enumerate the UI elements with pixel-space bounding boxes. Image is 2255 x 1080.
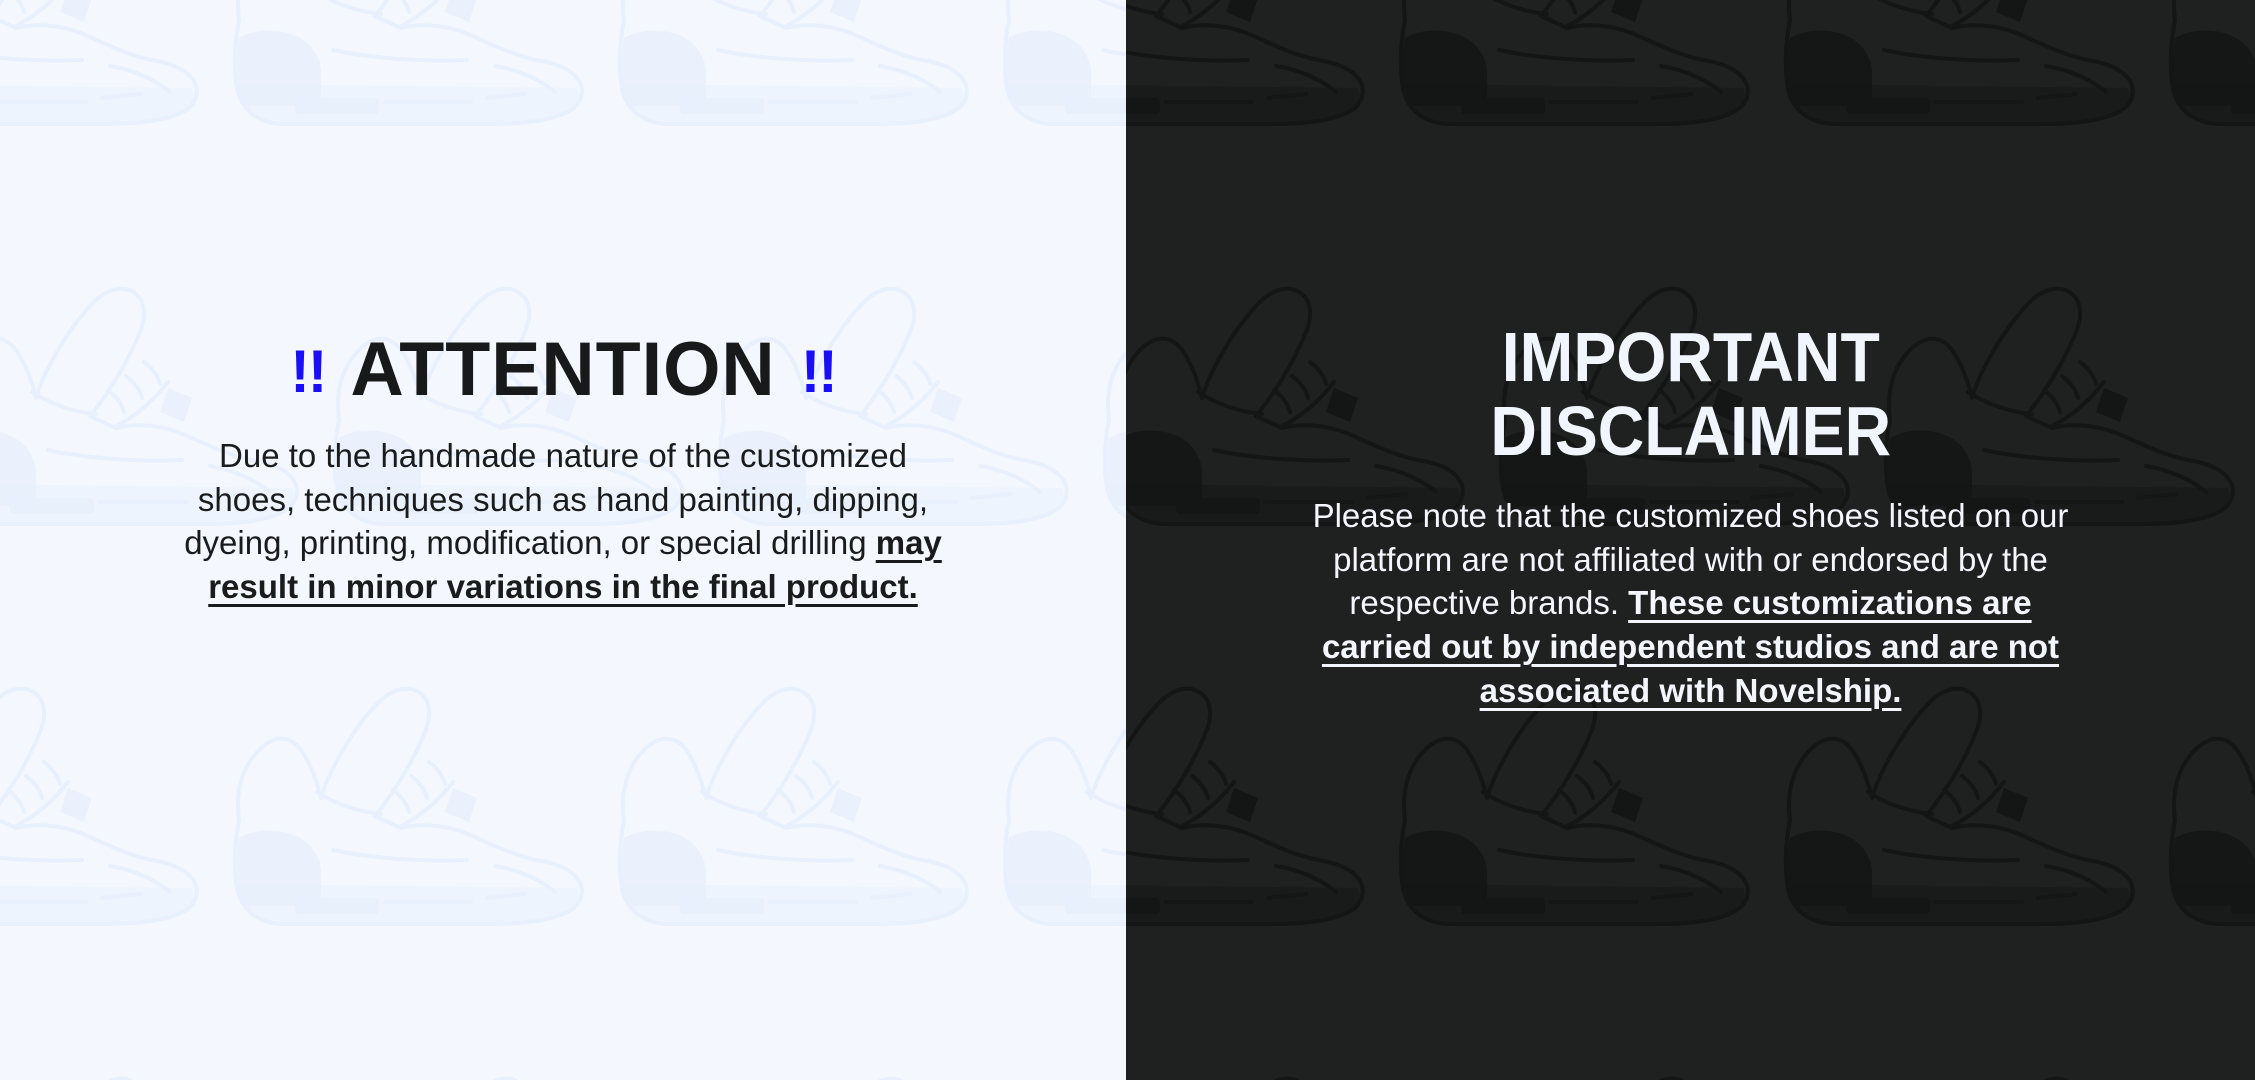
- disclaimer-headline-line-1: IMPORTANT: [1490, 320, 1891, 394]
- attention-headline-text: ATTENTION: [350, 332, 775, 408]
- disclaimer-content: IMPORTANT DISCLAIMER Please note that th…: [1126, 320, 2255, 712]
- double-exclamation-icon-right: !!: [801, 342, 836, 402]
- disclaimer-headline: IMPORTANT DISCLAIMER: [1490, 320, 1891, 468]
- disclaimer-panel: IMPORTANT DISCLAIMER Please note that th…: [1126, 0, 2255, 1080]
- double-exclamation-icon-left: !!: [290, 342, 325, 402]
- disclaimer-headline-line-2: DISCLAIMER: [1490, 394, 1891, 468]
- attention-body-normal: Due to the handmade nature of the custom…: [184, 437, 928, 561]
- attention-headline: !! ATTENTION !!: [290, 332, 835, 408]
- attention-body: Due to the handmade nature of the custom…: [183, 434, 943, 608]
- disclaimer-body: Please note that the customized shoes li…: [1296, 494, 2086, 712]
- attention-panel: !! ATTENTION !! Due to the handmade natu…: [0, 0, 1126, 1080]
- attention-content: !! ATTENTION !! Due to the handmade natu…: [0, 332, 1126, 608]
- dual-notice-banner: !! ATTENTION !! Due to the handmade natu…: [0, 0, 2255, 1080]
